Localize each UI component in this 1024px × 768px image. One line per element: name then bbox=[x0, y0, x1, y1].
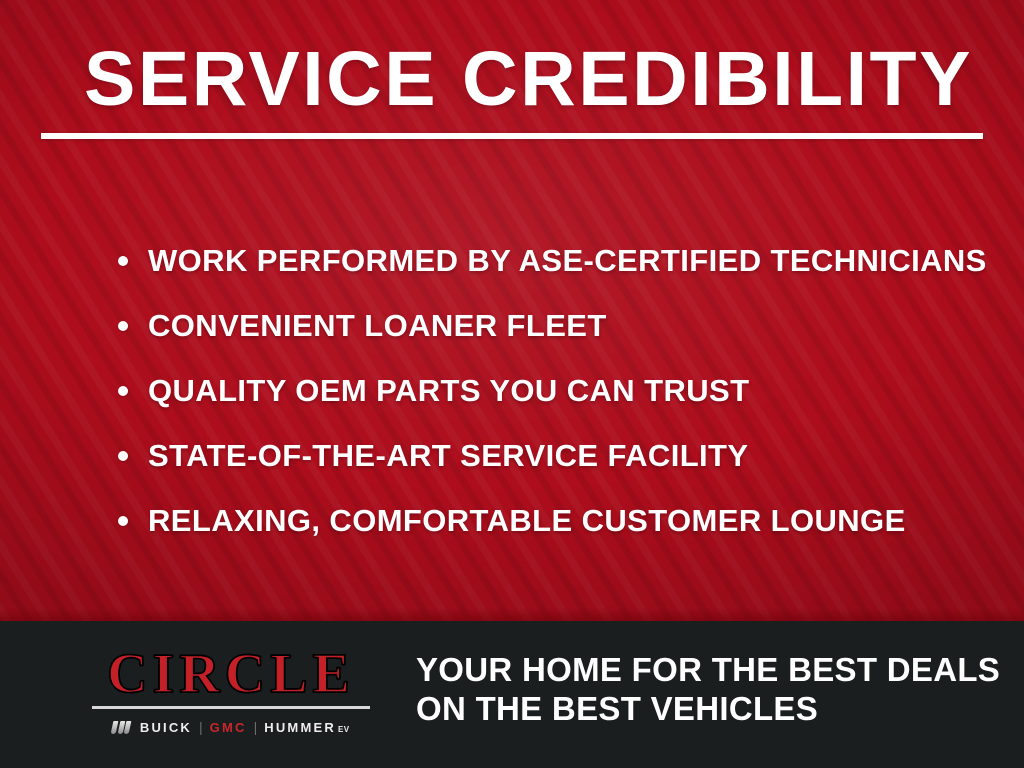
brand-label-gmc: GMC bbox=[210, 720, 247, 735]
dealer-logo-wordmark: CIRCLE bbox=[92, 648, 370, 700]
slide-title: SERVICE CREDIBILITY bbox=[84, 38, 984, 120]
slide-root: SERVICE CREDIBILITY WORK PERFORMED BY AS… bbox=[0, 0, 1024, 768]
dealer-logo: CIRCLE BUICK | GMC | HUMMER EV bbox=[92, 648, 370, 736]
list-item: STATE-OF-THE-ART SERVICE FACILITY bbox=[118, 423, 998, 488]
bullet-dot-icon bbox=[118, 386, 128, 396]
bullet-dot-icon bbox=[118, 451, 128, 461]
footer-tagline-line-1: YOUR HOME FOR THE BEST DEALS bbox=[416, 650, 996, 689]
brand-separator: | bbox=[254, 719, 258, 735]
brand-strip: BUICK | GMC | HUMMER EV bbox=[92, 718, 370, 736]
footer-bar: CIRCLE BUICK | GMC | HUMMER EV YOUR HOME… bbox=[0, 621, 1024, 768]
footer-tagline: YOUR HOME FOR THE BEST DEALS ON THE BEST… bbox=[416, 650, 996, 728]
list-item-label: QUALITY OEM PARTS YOU CAN TRUST bbox=[148, 373, 749, 409]
footer-tagline-line-2: ON THE BEST VEHICLES bbox=[416, 689, 996, 728]
brand-label-hummer-ev-suffix: EV bbox=[338, 725, 350, 734]
list-item: WORK PERFORMED BY ASE-CERTIFIED TECHNICI… bbox=[118, 228, 998, 293]
feature-bullet-list: WORK PERFORMED BY ASE-CERTIFIED TECHNICI… bbox=[118, 228, 998, 553]
brand-separator: | bbox=[199, 719, 203, 735]
list-item: RELAXING, COMFORTABLE CUSTOMER LOUNGE bbox=[118, 488, 998, 553]
brand-label-hummer: HUMMER bbox=[264, 720, 336, 735]
list-item: QUALITY OEM PARTS YOU CAN TRUST bbox=[118, 358, 998, 423]
brand-label-buick: BUICK bbox=[140, 720, 192, 735]
list-item-label: CONVENIENT LOANER FLEET bbox=[148, 308, 607, 344]
logo-divider-rule bbox=[92, 706, 370, 709]
panel-bottom-shadow bbox=[0, 608, 1024, 621]
bullet-dot-icon bbox=[118, 321, 128, 331]
buick-tri-shield-icon bbox=[112, 721, 132, 734]
bullet-dot-icon bbox=[118, 256, 128, 266]
list-item-label: STATE-OF-THE-ART SERVICE FACILITY bbox=[148, 438, 748, 474]
bullet-dot-icon bbox=[118, 516, 128, 526]
list-item-label: WORK PERFORMED BY ASE-CERTIFIED TECHNICI… bbox=[148, 243, 987, 279]
list-item: CONVENIENT LOANER FLEET bbox=[118, 293, 998, 358]
list-item-label: RELAXING, COMFORTABLE CUSTOMER LOUNGE bbox=[148, 503, 906, 539]
title-divider-rule bbox=[41, 133, 983, 139]
